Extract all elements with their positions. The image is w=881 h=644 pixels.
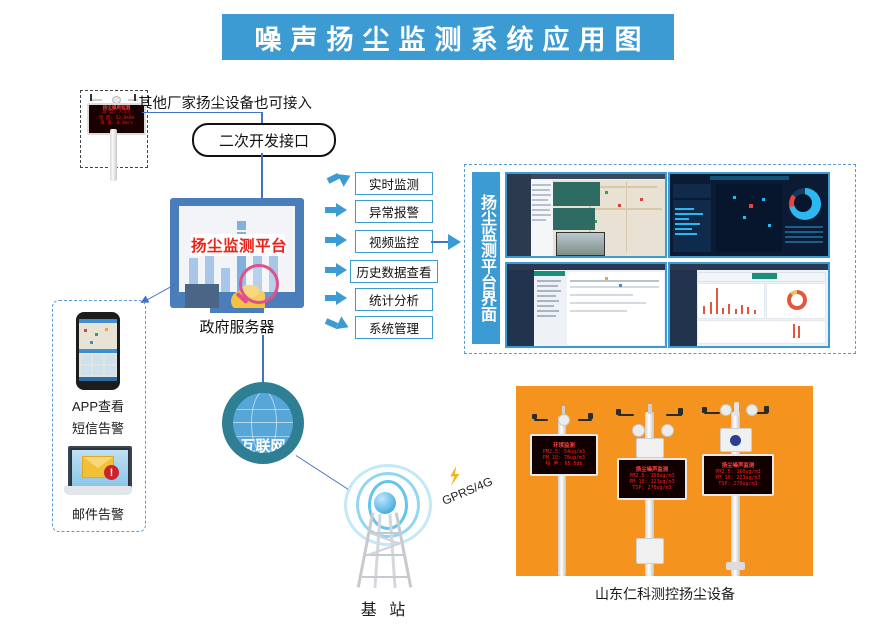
platform-screen-label: 扬尘监测平台 — [191, 234, 285, 256]
equipment-led-board-2: 扬尘噪声监测 PM2.5: 150ug/m3 PM 10: 223ug/m3 T… — [617, 458, 687, 500]
menu-item-label-1: 异常报警 — [369, 202, 419, 221]
dark-map-canvas — [716, 184, 782, 252]
alert-badge-icon: ! — [104, 465, 119, 480]
api-interface-pill[interactable]: 二次开发接口 — [192, 123, 336, 157]
mobile-phone — [76, 312, 120, 390]
globe-inner: 互联网 — [233, 393, 293, 453]
laptop-screen: ! — [68, 446, 132, 490]
menu-item-system[interactable]: 系统管理 — [355, 316, 433, 339]
equipment-led-board-3: 扬尘噪声监测 PM2.5: 160ug/m3 PM 10: 223ug/m3 T… — [702, 454, 774, 496]
equipment-cabinet-2 — [636, 438, 664, 458]
equipment-led-line-1-2: 噪 声: 65.5db — [532, 461, 596, 467]
menu-item-label-3: 历史数据查看 — [356, 262, 431, 281]
equipment-led-line-2-2: TSP: 270ug/m3 — [619, 485, 685, 491]
map-data-popup — [553, 182, 600, 206]
map-info-popup — [553, 208, 596, 230]
ui-panel-arrow — [448, 234, 461, 250]
screenshot-data-table-dashboard[interactable] — [505, 262, 667, 348]
equipment-showcase-panel: 环境监测 PM2.5: 54ug/m3 PM 10: 78ug/m3 噪 声: … — [516, 386, 813, 576]
menu-arrow-tail-3 — [325, 267, 338, 273]
page-title-banner: 噪声扬尘监测系统应用图 — [222, 14, 674, 60]
mail-caption: 邮件告警 — [58, 504, 138, 523]
external-device-pole — [110, 129, 117, 181]
menu-item-history[interactable]: 历史数据查看 — [350, 260, 438, 283]
equipment-caption: 山东仁科测控扬尘设备 — [560, 584, 770, 604]
laptop-device: ! — [64, 446, 132, 498]
menu-item-label-4: 统计分析 — [369, 290, 419, 309]
equipment-led-board-1: 环境监测 PM2.5: 54ug/m3 PM 10: 78ug/m3 噪 声: … — [530, 434, 598, 476]
alert-badge-label: ! — [110, 467, 114, 479]
equipment-sensors-3 — [702, 402, 772, 428]
equipment-ground-box-2 — [636, 538, 664, 564]
api-to-platform-line — [261, 153, 263, 199]
page-title: 噪声扬尘监测系统应用图 — [246, 18, 651, 57]
third-party-connector — [142, 112, 262, 114]
third-party-note: 其他厂家扬尘设备也可接入 — [138, 92, 312, 113]
equipment-sensors-2 — [616, 406, 686, 436]
server-to-internet-line — [262, 335, 264, 383]
ui-panel-vertical-text: 扬尘监测平台界面 — [477, 194, 495, 322]
tower-antenna-ball — [374, 492, 396, 514]
menu-item-label-0: 实时监测 — [369, 174, 419, 193]
magnifier-icon — [239, 264, 279, 304]
equipment-logo-3 — [730, 435, 741, 446]
equipment-led-line-3-2: TSP: 270ug/m3 — [704, 481, 772, 487]
ui-panel-vertical-label: 扬尘监测平台界面 — [472, 172, 500, 344]
platform-screen: 扬尘监测平台 — [179, 206, 295, 292]
gprs-bolt-icon — [447, 466, 463, 486]
internet-globe: 互联网 — [222, 382, 304, 464]
server-caption: 政府服务器 — [196, 316, 278, 337]
menu-item-realtime[interactable]: 实时监测 — [355, 172, 433, 195]
platform-keyboard-block — [185, 284, 219, 308]
menu-arrow-tail-2 — [325, 237, 338, 243]
laptop-keyboard — [64, 486, 132, 495]
external-led-line-2: 风 速: 0.0m/s — [89, 121, 144, 126]
menu-to-ui-line — [431, 241, 449, 243]
gprs-label: GPRS/4G — [440, 474, 495, 508]
menu-item-label-5: 系统管理 — [369, 318, 419, 337]
base-station-tower — [330, 470, 440, 590]
menu-item-video[interactable]: 视频监控 — [355, 230, 433, 253]
equipment-sensors-1 — [532, 410, 594, 428]
internet-label: 互联网 — [233, 435, 293, 453]
api-interface-label: 二次开发接口 — [219, 130, 309, 151]
platform-stand — [210, 308, 264, 313]
table-region — [567, 272, 664, 345]
screenshot-big-screen-dashboard[interactable] — [668, 172, 830, 258]
base-station-caption: 基 站 — [345, 596, 425, 620]
platform-monitor: 扬尘监测平台 — [170, 198, 304, 308]
equipment-base-3 — [726, 562, 745, 570]
menu-item-alarm[interactable]: 异常报警 — [355, 200, 433, 223]
screenshot-map-monitoring-dashboard[interactable] — [505, 172, 667, 258]
menu-arrow-tail-1 — [325, 207, 338, 213]
menu-item-statistics[interactable]: 统计分析 — [355, 288, 433, 311]
phone-screen — [79, 319, 117, 381]
sms-caption: 短信告警 — [58, 418, 138, 437]
video-preview — [556, 232, 605, 256]
screenshot-statistics-charts-dashboard[interactable] — [668, 262, 830, 348]
line-chart-panel — [697, 320, 826, 344]
app-caption: APP查看 — [58, 396, 138, 415]
menu-arrow-tail-4 — [325, 295, 338, 301]
menu-item-label-2: 视频监控 — [369, 232, 419, 251]
